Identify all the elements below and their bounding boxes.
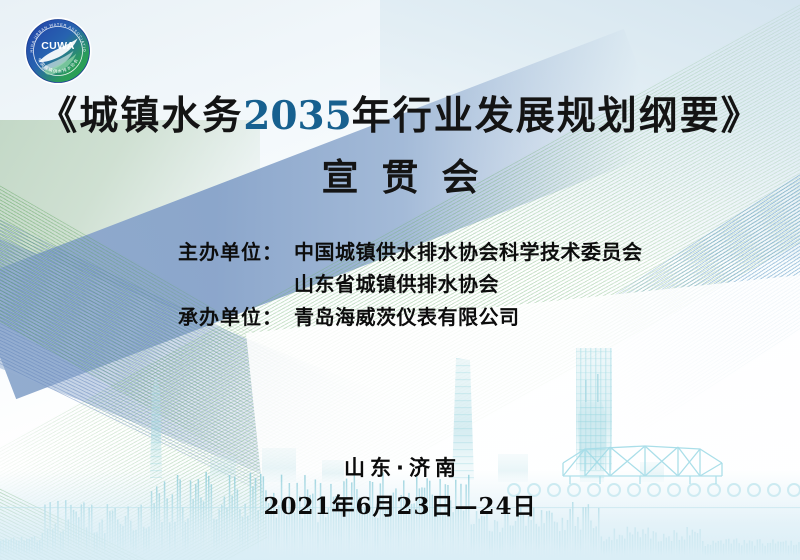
poster-footer: 山东·济南 2021年6月23日—24日 <box>0 452 800 521</box>
organizer-row: 山东省城镇供排水协会 <box>178 268 738 300</box>
title-year: 2035 <box>243 93 352 139</box>
organizer-value: 山东省城镇供排水协会 <box>294 268 738 300</box>
logo-acronym: CUWA <box>41 40 75 52</box>
poster-title-block: 《城镇水务2035年行业发展规划纲要》 宣贯会 <box>0 96 800 201</box>
conference-poster: CUWA CHINA URBAN WATER ASSOCIATION 中国城镇供… <box>0 0 800 560</box>
event-date: 2021年6月23日—24日 <box>0 487 800 521</box>
title-part-1: 城镇水务 <box>79 94 243 139</box>
organizer-block: 主办单位： 中国城镇供水排水协会科学技术委员会 山东省城镇供排水协会 承办单位：… <box>178 236 738 333</box>
organizer-row: 承办单位： 青岛海威茨仪表有限公司 <box>178 301 738 333</box>
title-bracket-close: 》 <box>721 94 762 139</box>
organizer-value: 青岛海威茨仪表有限公司 <box>294 301 738 333</box>
organizer-label: 承办单位： <box>178 301 294 333</box>
organizer-row: 主办单位： 中国城镇供水排水协会科学技术委员会 <box>178 236 738 268</box>
cuwa-logo: CUWA CHINA URBAN WATER ASSOCIATION 中国城镇供… <box>23 16 93 86</box>
page-subtitle: 宣贯会 <box>0 147 800 201</box>
event-location: 山东·济南 <box>0 452 800 482</box>
page-title: 《城镇水务2035年行业发展规划纲要》 <box>0 96 800 138</box>
organizer-label: 主办单位： <box>178 236 294 268</box>
title-part-2: 年行业发展规划纲要 <box>352 94 721 139</box>
organizer-value: 中国城镇供水排水协会科学技术委员会 <box>294 236 738 268</box>
title-bracket-open: 《 <box>38 94 79 139</box>
